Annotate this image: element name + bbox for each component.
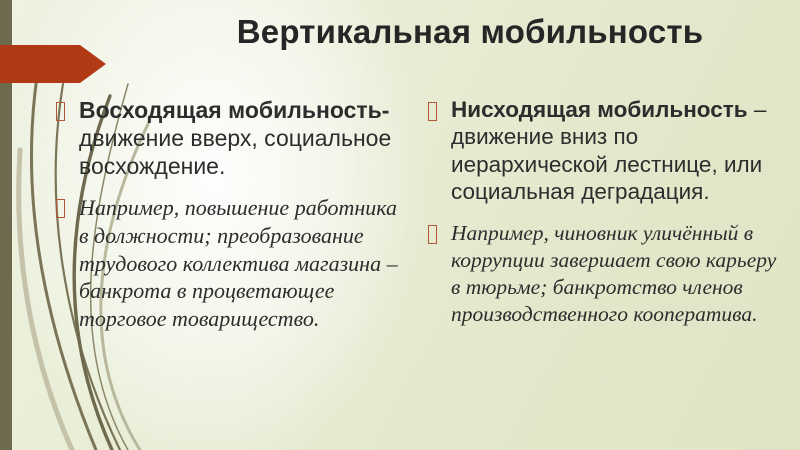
bullet-text: Нисходящая мобильность – движение вниз п… [451, 96, 788, 206]
bullet-text: Например, чиновник уличённый в коррупции… [451, 220, 788, 328]
hollow-box-bullet-icon [428, 225, 437, 244]
bullet-lead-text: Нисходящая мобильность [451, 97, 748, 122]
bullet-item: Нисходящая мобильность – движение вниз п… [428, 96, 788, 206]
bullet-item: Восходящая мобильность- движение вверх, … [56, 96, 406, 180]
hollow-box-bullet-icon [56, 199, 65, 218]
bullet-text: Восходящая мобильность- движение вверх, … [79, 96, 406, 180]
bullet-item: Например, чиновник уличённый в коррупции… [428, 220, 788, 328]
slide-title: Вертикальная мобильность [150, 14, 790, 50]
hollow-box-bullet-icon [56, 102, 65, 121]
bullet-lead-text: Восходящая мобильность- [79, 97, 389, 123]
bullet-item: Например, повышение работника в должност… [56, 194, 406, 333]
arrow-banner-shape [0, 45, 106, 83]
content-column-left: Восходящая мобильность- движение вверх, … [56, 96, 406, 333]
slide-canvas: Вертикальная мобильность Восходящая моби… [0, 0, 800, 450]
bullet-body-text: движение вверх, социальное восхождение. [79, 125, 391, 179]
hollow-box-bullet-icon [428, 102, 437, 121]
content-column-right: Нисходящая мобильность – движение вниз п… [428, 96, 788, 328]
bullet-text: Например, повышение работника в должност… [79, 194, 406, 333]
